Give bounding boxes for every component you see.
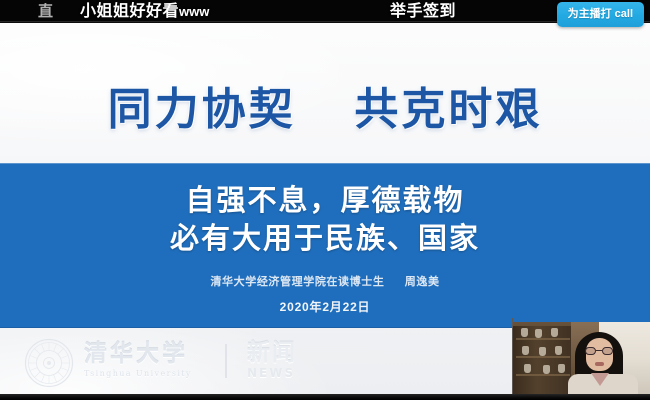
danmaku-comment-partial: 直: [38, 2, 53, 22]
banner-motto-line-1: 自强不息，厚德载物: [0, 177, 650, 219]
webcam-bookshelf: [513, 326, 573, 394]
danmaku-text: 小姐姐好好看: [80, 3, 179, 20]
shelf-object: [551, 328, 558, 337]
shelf-row: [516, 374, 570, 376]
tsinghua-name-en: Tsinghua University: [84, 369, 210, 378]
slide-headline: 同力协契 共克时艰: [0, 73, 650, 137]
talk-date: 2020年2月22日: [0, 298, 650, 315]
speaker-mouth: [595, 362, 604, 366]
danmaku-comment-bar[interactable]: 直 小姐姐好好看www 举手签到: [0, 0, 650, 23]
speaker-info: 清华大学经济管理学院在读博士生 周逸美: [0, 273, 650, 289]
danmaku-comment: 举手签到: [390, 1, 456, 22]
cheer-host-button[interactable]: 为主播打 call: [557, 2, 644, 27]
danmaku-comment: 小姐姐好好看www: [80, 1, 209, 22]
live-stream-player[interactable]: 同力协契 共克时艰 自强不息，厚德载物 必有大用于民族、国家 清华大学经济管理学…: [0, 0, 650, 400]
shelf-object: [524, 364, 531, 373]
news-label-en: NEWS: [247, 366, 297, 380]
player-bottom-edge: [0, 394, 650, 400]
shelf-object: [555, 346, 562, 355]
news-label-cn: 新闻: [247, 340, 297, 366]
danmaku-text-latin: www: [179, 4, 209, 19]
shelf-row: [516, 338, 570, 340]
news-wordmark: 新闻 NEWS: [247, 340, 297, 380]
speaker-name: 周逸美: [405, 276, 440, 288]
shelf-object: [543, 365, 550, 374]
webcam-top-strip: [513, 318, 650, 322]
logo-divider: [225, 344, 227, 378]
shelf-object: [535, 329, 542, 338]
headline-left-text: 同力协契: [108, 84, 296, 135]
slide-banner: 自强不息，厚德载物 必有大用于民族、国家 清华大学经济管理学院在读博士生 周逸美…: [0, 163, 650, 328]
tsinghua-name-cn: 清华大学: [84, 340, 210, 367]
speaker-affiliation: 清华大学经济管理学院在读博士生: [210, 276, 384, 288]
banner-motto-line-2: 必有大用于民族、国家: [0, 215, 650, 257]
shelf-row: [516, 356, 570, 358]
shelf-object: [521, 328, 528, 337]
shelf-object: [522, 346, 529, 355]
headline-right-text: 共克时艰: [354, 84, 542, 135]
shelf-object: [558, 364, 565, 373]
danmaku-text: 举手签到: [390, 3, 456, 20]
shelf-object: [539, 347, 546, 356]
tsinghua-wordmark: 清华大学 Tsinghua University: [84, 340, 210, 378]
tsinghua-seal-icon: [24, 338, 74, 388]
glasses-icon: [585, 347, 614, 355]
speaker-webcam-overlay[interactable]: [512, 318, 650, 394]
